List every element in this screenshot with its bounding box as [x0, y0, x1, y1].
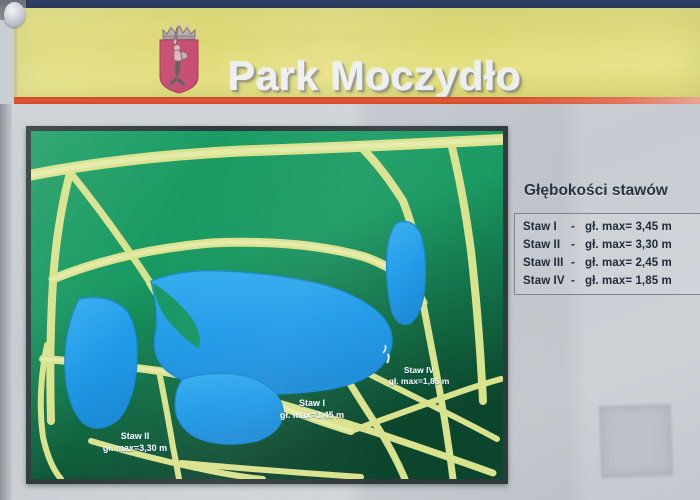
- legend-row: Staw I-gł. max= 3,45 m: [523, 221, 672, 233]
- legend-pond-depth: gł. max= 1,85 m: [585, 275, 672, 287]
- legend-row: Staw II-gł. max= 3,30 m: [523, 239, 672, 251]
- legend-pond-depth: gł. max= 3,30 m: [585, 239, 672, 251]
- pond-staw-4-shape: [387, 222, 426, 325]
- legend-pond-name: Staw I: [523, 221, 571, 233]
- warsaw-coat-of-arms-icon: [152, 20, 206, 95]
- legend-pond-name: Staw IV: [523, 275, 571, 287]
- board-left-edge: [0, 104, 12, 500]
- board-title: Park Moczydło: [228, 53, 628, 100]
- legend-row: Staw IV-gł. max= 1,85 m: [523, 275, 672, 287]
- board-residue-patch-inner: [614, 412, 654, 467]
- legend-dash: -: [571, 239, 585, 251]
- pond-staw-2-shape: [65, 298, 138, 429]
- mounting-bolt-icon: [4, 2, 25, 27]
- legend-pond-name: Staw II: [523, 239, 571, 251]
- legend-pond-depth: gł. max= 2,45 m: [585, 257, 672, 269]
- legend-dash: -: [571, 275, 585, 287]
- legend-row: Staw III-gł. max= 2,45 m: [523, 257, 672, 269]
- red-stripe-glare: [500, 97, 700, 104]
- legend-pond-depth: gł. max= 3,45 m: [585, 221, 672, 233]
- park-information-board-photo: Park Moczydło: [0, 0, 700, 500]
- legend-dash: -: [571, 221, 585, 233]
- park-map: Staw I gł. max=3,45 m Staw II gł. max=3,…: [26, 126, 508, 484]
- legend-dash: -: [571, 257, 585, 269]
- legend-pond-name: Staw III: [523, 257, 571, 269]
- legend-title: Głębokości stawów: [524, 182, 668, 200]
- legend-box: Staw I-gł. max= 3,45 m Staw II-gł. max= …: [514, 213, 700, 295]
